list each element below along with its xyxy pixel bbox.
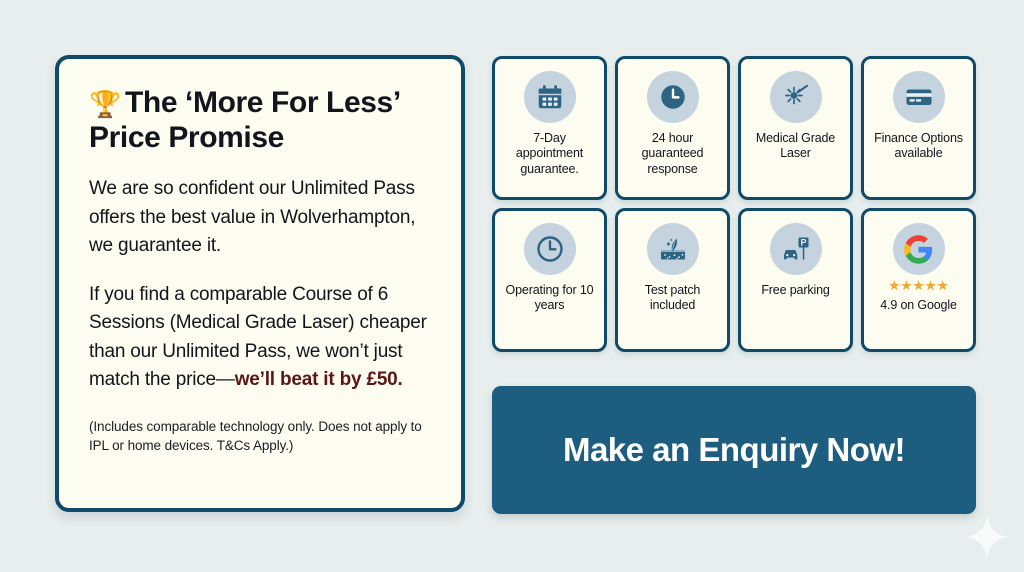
rating-stars: ★★★★★ <box>888 279 949 293</box>
feature-card-appointment-guarantee[interactable]: 7-Day appointment guarantee. <box>492 56 607 200</box>
feature-card-free-parking[interactable]: P Free parking <box>738 208 853 352</box>
parking-car-icon: P <box>770 223 822 275</box>
credit-card-icon <box>893 71 945 123</box>
price-promise-card: 🏆The ‘More For Less’ Price Promise We ar… <box>55 55 465 512</box>
promise-beat-highlight: we’ll beat it by £50. <box>235 369 403 390</box>
clock-filled-icon <box>647 71 699 123</box>
feature-label: 7-Day appointment guarantee. <box>500 131 599 177</box>
feature-label: Operating for 10 years <box>500 283 599 314</box>
promise-paragraph-2: If you find a comparable Course of 6 Ses… <box>89 281 431 395</box>
feature-card-24-hour-response[interactable]: 24 hour guaranteed response <box>615 56 730 200</box>
google-logo-icon <box>893 223 945 275</box>
clock-outline-icon <box>524 223 576 275</box>
skin-follicle-icon <box>647 223 699 275</box>
feature-card-google-rating[interactable]: ★★★★★ 4.9 on Google <box>861 208 976 352</box>
feature-label: Free parking <box>761 283 829 298</box>
feature-card-medical-grade-laser[interactable]: Medical Grade Laser <box>738 56 853 200</box>
promise-fineprint: (Includes comparable technology only. Do… <box>89 417 431 456</box>
sparkle-icon <box>964 514 1010 560</box>
trophy-icon: 🏆 <box>89 89 121 119</box>
promo-banner: 🏆The ‘More For Less’ Price Promise We ar… <box>0 0 1024 572</box>
feature-grid: 7-Day appointment guarantee. 24 hour gua… <box>492 56 976 352</box>
make-enquiry-button[interactable]: Make an Enquiry Now! <box>492 386 976 514</box>
feature-card-finance-options[interactable]: Finance Options available <box>861 56 976 200</box>
feature-label: Test patch included <box>623 283 722 314</box>
feature-label: 24 hour guaranteed response <box>623 131 722 177</box>
feature-card-test-patch[interactable]: Test patch included <box>615 208 730 352</box>
promise-title-text: The ‘More For Less’ Price Promise <box>89 86 399 154</box>
feature-card-operating-10-years[interactable]: Operating for 10 years <box>492 208 607 352</box>
promise-paragraph-1: We are so confident our Unlimited Pass o… <box>89 175 431 261</box>
cta-label: Make an Enquiry Now! <box>563 431 905 469</box>
feature-label: Finance Options available <box>869 131 968 162</box>
feature-label: 4.9 on Google <box>880 298 957 313</box>
calendar-icon <box>524 71 576 123</box>
feature-label: Medical Grade Laser <box>746 131 845 162</box>
page-title: 🏆The ‘More For Less’ Price Promise <box>89 85 431 155</box>
svg-text:P: P <box>800 237 806 247</box>
laser-icon <box>770 71 822 123</box>
